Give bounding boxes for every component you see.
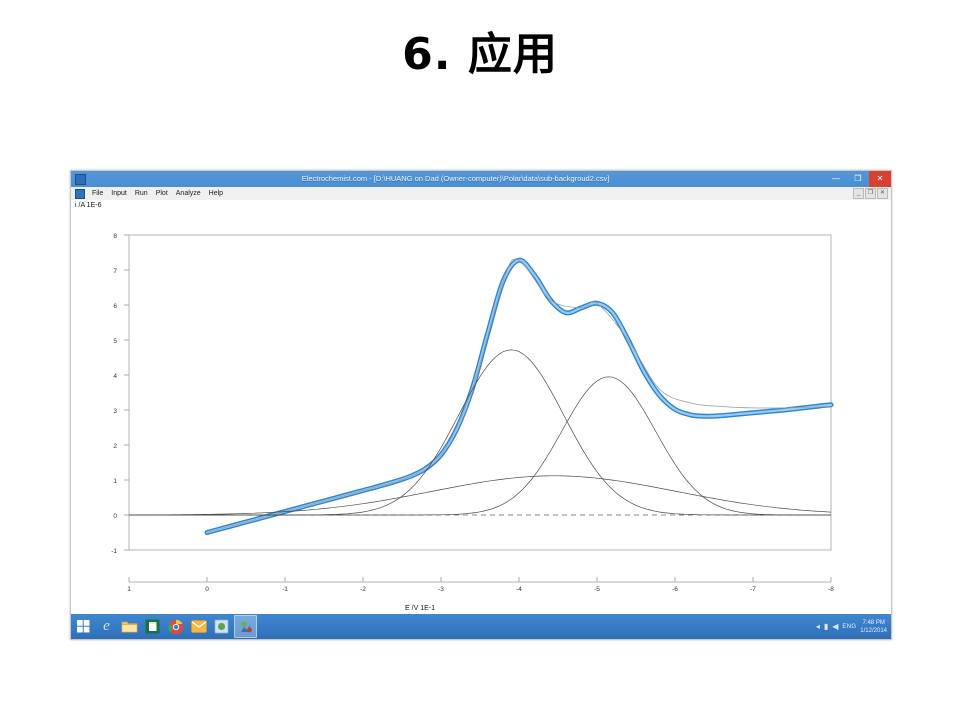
network-icon[interactable]: ▮ bbox=[824, 622, 828, 631]
component-peak-curve bbox=[129, 377, 831, 515]
x-tick-label: -5 bbox=[594, 586, 600, 593]
x-tick-label: -1 bbox=[282, 586, 288, 593]
x-tick-label: -3 bbox=[438, 586, 444, 593]
close-button[interactable]: ✕ bbox=[869, 171, 891, 187]
y-tick-label: 7 bbox=[113, 268, 117, 275]
x-tick-label: 1 bbox=[127, 586, 131, 593]
y-tick-label: 1 bbox=[113, 478, 117, 485]
y-tick-label: 6 bbox=[113, 303, 117, 310]
x-axis-unit-label: E /V 1E-1 bbox=[405, 605, 435, 612]
y-tick-label: 4 bbox=[113, 373, 117, 380]
y-tick-label: -1 bbox=[111, 548, 117, 555]
menu-item-help[interactable]: Help bbox=[205, 187, 227, 200]
windows-taskbar: e ◂ ▮ ◀ ENG 7:48 PM 1/12/2014 bbox=[71, 614, 891, 639]
minimize-button[interactable]: — bbox=[825, 171, 847, 187]
restore-button[interactable]: ❐ bbox=[847, 171, 869, 187]
clock-date: 1/12/2014 bbox=[860, 627, 887, 635]
excel-icon[interactable] bbox=[142, 616, 163, 637]
chrome-icon[interactable] bbox=[165, 616, 186, 637]
internet-explorer-icon[interactable]: e bbox=[96, 616, 117, 637]
show-hidden-icons-icon[interactable]: ◂ bbox=[816, 622, 820, 631]
mail-icon[interactable] bbox=[188, 616, 209, 637]
x-tick-label: 0 bbox=[205, 586, 209, 593]
measured-data-highlight bbox=[207, 260, 831, 532]
x-tick-label: -6 bbox=[672, 586, 678, 593]
start-button[interactable] bbox=[73, 616, 94, 637]
measured-data-curve bbox=[207, 260, 831, 532]
y-tick-label: 8 bbox=[113, 233, 117, 240]
document-icon bbox=[75, 189, 85, 199]
component-peak-curve bbox=[129, 350, 831, 515]
clock-time: 7:48 PM bbox=[860, 619, 887, 627]
voltammogram-chart: -101234567810-1-2-3-4-5-6-7-8E /V 1E-1 bbox=[71, 200, 891, 613]
language-indicator[interactable]: ENG bbox=[842, 624, 856, 630]
mdi-minimize-button[interactable]: _ bbox=[853, 188, 864, 199]
system-tray: ◂ ▮ ◀ ENG 7:48 PM 1/12/2014 bbox=[816, 619, 891, 635]
fitted-sum-curve bbox=[207, 259, 831, 533]
y-tick-label: 0 bbox=[113, 513, 117, 520]
window-titlebar: Electrochemist.com - [D:\HUANG on Dad (O… bbox=[71, 171, 891, 187]
menu-item-plot[interactable]: Plot bbox=[152, 187, 172, 200]
notes-icon[interactable] bbox=[211, 616, 232, 637]
plot-client-area: i /A 1E-6 -101234567810-1-2-3-4-5-6-7-8E… bbox=[71, 200, 891, 613]
app-icon bbox=[75, 174, 86, 185]
menu-bar: File Input Run Plot Analyze Help _ ❐ ✕ bbox=[71, 187, 891, 201]
x-tick-label: -4 bbox=[516, 586, 522, 593]
menu-item-file[interactable]: File bbox=[88, 187, 107, 200]
menu-item-input[interactable]: Input bbox=[107, 187, 131, 200]
mdi-restore-button[interactable]: ❐ bbox=[865, 188, 876, 199]
electrochemist-app-icon[interactable] bbox=[234, 615, 257, 638]
plot-frame bbox=[129, 235, 831, 550]
y-tick-label: 5 bbox=[113, 338, 117, 345]
x-tick-label: -7 bbox=[750, 586, 756, 593]
file-explorer-icon[interactable] bbox=[119, 616, 140, 637]
window-title: Electrochemist.com - [D:\HUANG on Dad (O… bbox=[86, 171, 825, 187]
y-tick-label: 2 bbox=[113, 443, 117, 450]
x-tick-label: -8 bbox=[828, 586, 834, 593]
menu-item-analyze[interactable]: Analyze bbox=[172, 187, 205, 200]
page-title: 6. 应用 bbox=[0, 18, 960, 82]
chart-canvas: -101234567810-1-2-3-4-5-6-7-8E /V 1E-1 bbox=[71, 200, 891, 613]
volume-icon[interactable]: ◀ bbox=[832, 622, 838, 631]
mdi-close-button[interactable]: ✕ bbox=[877, 188, 888, 199]
y-tick-label: 3 bbox=[113, 408, 117, 415]
application-window-screenshot: Electrochemist.com - [D:\HUANG on Dad (O… bbox=[70, 170, 892, 640]
x-tick-label: -2 bbox=[360, 586, 366, 593]
menu-item-run[interactable]: Run bbox=[131, 187, 152, 200]
mdi-window-buttons: _ ❐ ✕ bbox=[853, 188, 891, 199]
clock[interactable]: 7:48 PM 1/12/2014 bbox=[860, 619, 887, 635]
